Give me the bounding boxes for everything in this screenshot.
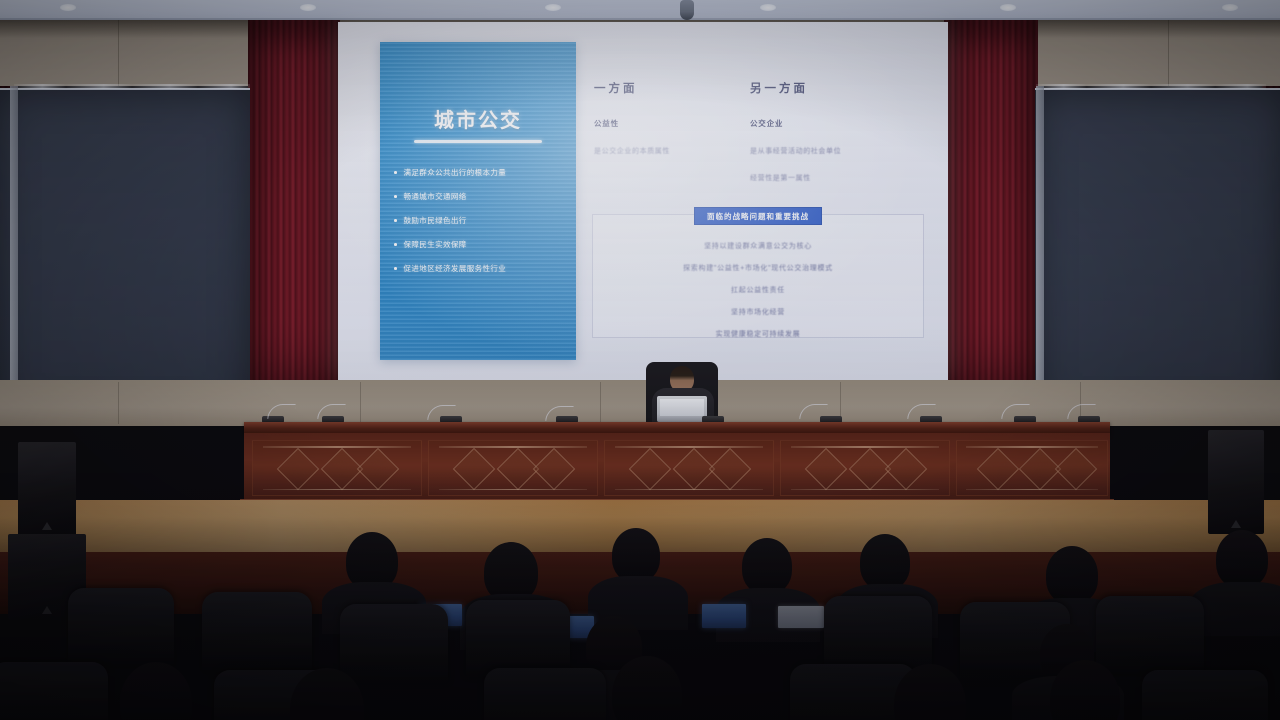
audience-laptop-screen bbox=[778, 606, 824, 628]
slide-column-two: 另一方面 公交企业 是从事经营活动的社会单位 经营性是第一属性 bbox=[750, 80, 920, 200]
bullet-dot-icon bbox=[394, 243, 397, 246]
acoustic-panel-left bbox=[0, 88, 250, 420]
bullet-dot-icon bbox=[394, 195, 397, 198]
bullet-dot-icon bbox=[394, 171, 397, 174]
slide-title-panel: 城市公交 满足群众公共出行的根本力量 畅通城市交通网络 鼓励市民绿色出行 bbox=[380, 42, 576, 360]
challenge-item-list: 坚持以建设群众满意公交为核心 探索构建"公益性+市场化"现代公交治理模式 扛起公… bbox=[593, 241, 923, 351]
slide-column-one: 一方面 公益性 是公交企业的本质属性 bbox=[594, 80, 744, 173]
presenter-laptop bbox=[657, 396, 707, 422]
audience-head bbox=[120, 662, 192, 720]
auditorium-seat[interactable] bbox=[68, 588, 174, 668]
slide-challenge-box: 面临的战略问题和重要挑战 坚持以建设群众满意公交为核心 探索构建"公益性+市场化… bbox=[592, 214, 924, 338]
challenge-item: 探索构建"公益性+市场化"现代公交治理模式 bbox=[593, 263, 923, 273]
audience-head bbox=[742, 538, 792, 594]
bullet-text: 保障民生实效保障 bbox=[404, 239, 467, 250]
challenge-item: 扛起公益性责任 bbox=[593, 285, 923, 295]
panel-frame-left bbox=[10, 86, 18, 420]
slide-title: 城市公交 bbox=[380, 104, 576, 133]
audience-laptop-screen bbox=[702, 604, 746, 628]
auditorium-seat[interactable] bbox=[340, 604, 448, 684]
audience-head bbox=[484, 542, 538, 602]
ceiling-light bbox=[300, 4, 316, 11]
column-line: 是从事经营活动的社会单位 bbox=[750, 146, 920, 156]
panel-diamond-motif bbox=[977, 448, 1019, 490]
ceiling-light bbox=[545, 4, 561, 11]
bullet-text: 满足群众公共出行的根本力量 bbox=[404, 167, 507, 178]
podium-panel bbox=[956, 440, 1108, 496]
challenge-banner-label: 面临的战略问题和重要挑战 bbox=[694, 207, 822, 225]
bullet-text: 促进地区经济发展服务性行业 bbox=[404, 263, 507, 274]
panel-diamond-motif bbox=[277, 448, 319, 490]
panel-diamond-motif bbox=[357, 448, 399, 490]
auditorium-seat[interactable] bbox=[466, 600, 570, 678]
panel-light-strip-right bbox=[1036, 84, 1266, 89]
ceiling-camera-icon bbox=[680, 0, 694, 20]
slide-title-divider bbox=[414, 140, 542, 143]
acoustic-panel-right bbox=[1035, 88, 1280, 420]
podium-panel bbox=[604, 440, 774, 496]
panel-frame-right bbox=[1036, 86, 1044, 420]
slide-bullet-item: 满足群众公共出行的根本力量 bbox=[394, 167, 570, 178]
slide-bullet-item: 保障民生实效保障 bbox=[394, 239, 570, 250]
ceiling-light bbox=[1222, 4, 1238, 11]
podium-panel bbox=[780, 440, 950, 496]
stage-curtain-left bbox=[248, 20, 340, 420]
challenge-item: 坚持以建设群众满意公交为核心 bbox=[593, 241, 923, 251]
audience-head bbox=[612, 656, 682, 720]
column-heading: 一方面 bbox=[594, 80, 744, 96]
column-subheading: 公益性 bbox=[594, 118, 744, 129]
ceiling-light bbox=[1000, 4, 1016, 11]
wall-seam bbox=[118, 382, 119, 424]
stage-curtain-right bbox=[944, 20, 1038, 420]
ceiling-light bbox=[760, 4, 776, 11]
ceiling-light bbox=[60, 4, 76, 11]
slide-bullet-item: 促进地区经济发展服务性行业 bbox=[394, 263, 570, 274]
column-line: 是公交企业的本质属性 bbox=[594, 146, 744, 156]
loudspeaker-top-right bbox=[1208, 430, 1264, 534]
panel-diamond-motif bbox=[805, 448, 847, 490]
bullet-dot-icon bbox=[394, 219, 397, 222]
podium-panel bbox=[252, 440, 422, 496]
panel-diamond-motif bbox=[885, 448, 927, 490]
panel-light-strip-left bbox=[14, 84, 250, 89]
auditorium-seat[interactable] bbox=[484, 668, 606, 720]
slide-bullet-list: 满足群众公共出行的根本力量 畅通城市交通网络 鼓励市民绿色出行 保障民生实效保障 bbox=[394, 167, 570, 287]
panel-diamond-motif bbox=[453, 448, 495, 490]
audience-head bbox=[860, 534, 910, 590]
projection-screen: 城市公交 满足群众公共出行的根本力量 畅通城市交通网络 鼓励市民绿色出行 bbox=[338, 22, 948, 380]
auditorium-seat[interactable] bbox=[0, 662, 108, 720]
auditorium-seat[interactable] bbox=[1096, 596, 1204, 676]
challenge-item: 实现健康稳定可持续发展 bbox=[593, 329, 923, 339]
column-line: 经营性是第一属性 bbox=[750, 173, 920, 183]
panel-diamond-motif bbox=[533, 448, 575, 490]
auditorium-seat[interactable] bbox=[1142, 670, 1268, 720]
panel-diamond-motif bbox=[1055, 448, 1097, 490]
column-heading: 另一方面 bbox=[750, 80, 920, 96]
column-subheading: 公交企业 bbox=[750, 118, 920, 129]
bullet-text: 畅通城市交通网络 bbox=[404, 191, 467, 202]
audience-head bbox=[1046, 546, 1098, 604]
presenter-laptop-screen bbox=[660, 399, 704, 416]
audience-head bbox=[1216, 530, 1268, 588]
audience-head bbox=[612, 528, 660, 582]
challenge-item: 坚持市场化经营 bbox=[593, 307, 923, 317]
bullet-text: 鼓励市民绿色出行 bbox=[404, 215, 467, 226]
wall-seam bbox=[360, 382, 361, 424]
wall-seam bbox=[600, 382, 601, 424]
slide-bullet-item: 畅通城市交通网络 bbox=[394, 191, 570, 202]
slide-bullet-item: 鼓励市民绿色出行 bbox=[394, 215, 570, 226]
bullet-dot-icon bbox=[394, 267, 397, 270]
conference-hall-scene: 城市公交 满足群众公共出行的根本力量 畅通城市交通网络 鼓励市民绿色出行 bbox=[0, 0, 1280, 720]
auditorium-seat[interactable] bbox=[202, 592, 312, 674]
podium-panel bbox=[428, 440, 598, 496]
panel-diamond-motif bbox=[709, 448, 751, 490]
panel-diamond-motif bbox=[629, 448, 671, 490]
audience-area bbox=[0, 520, 1280, 720]
slide-surface: 城市公交 满足群众公共出行的根本力量 畅通城市交通网络 鼓励市民绿色出行 bbox=[338, 22, 948, 380]
